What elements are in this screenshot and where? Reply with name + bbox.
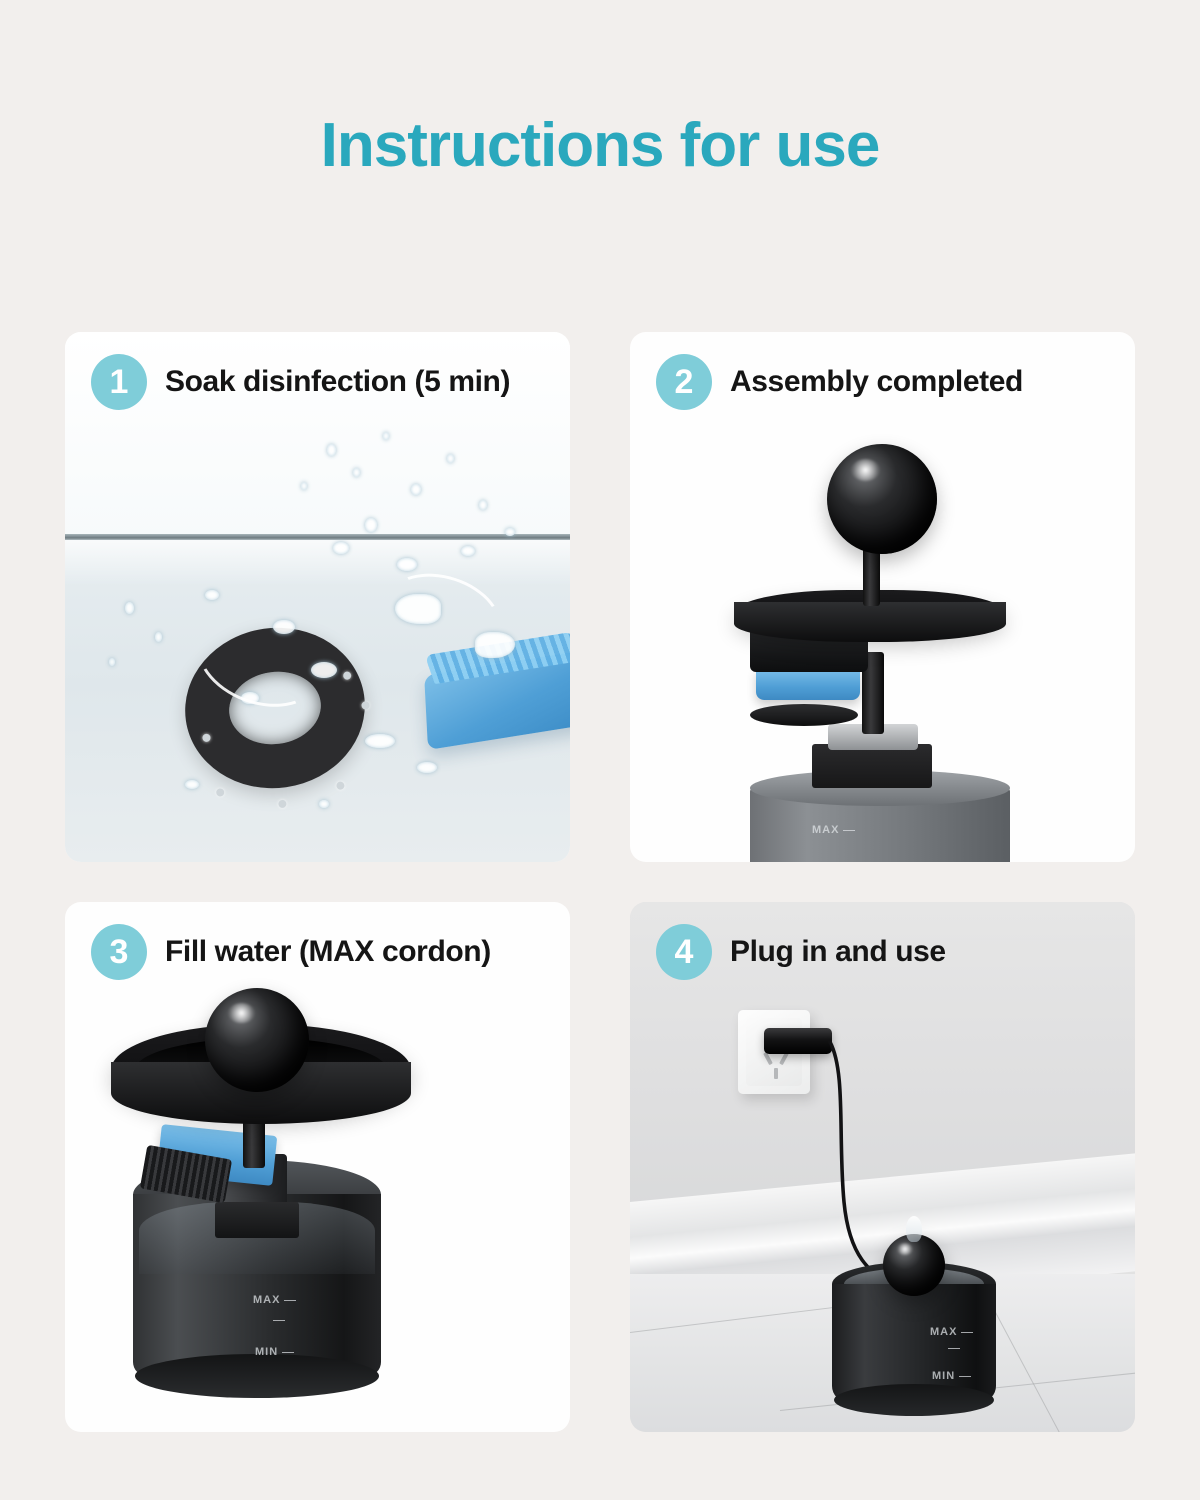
page-title: Instructions for use: [0, 0, 1200, 180]
step-header-4: 4 Plug in and use: [656, 924, 946, 980]
step-label-4: Plug in and use: [730, 935, 946, 969]
fountain-mid-marking: [948, 1348, 960, 1349]
fountain-mid-tick: [948, 1348, 960, 1349]
tank-max-label: MAX: [812, 824, 839, 836]
tank-bottom-edge: [135, 1354, 379, 1398]
step-badge-4: 4: [656, 924, 712, 980]
splash-droplet: [301, 482, 307, 490]
fountain-bottom-edge: [834, 1384, 994, 1416]
product-fill-view: MAX MIN: [65, 902, 570, 1432]
fountain-ball: [883, 1234, 945, 1296]
step-badge-3: 3: [91, 924, 147, 980]
fountain-min-tick: [959, 1376, 971, 1377]
splash-droplet: [411, 484, 421, 495]
tank-max-label: MAX: [253, 1294, 280, 1306]
product-exploded-view: MAX: [630, 332, 1135, 862]
splash-droplet: [365, 734, 395, 748]
step-card-3: MAX MIN 3: [65, 902, 570, 1432]
splash-droplet: [479, 500, 487, 510]
step-header-2: 2 Assembly completed: [656, 354, 1023, 410]
splash-droplet: [417, 762, 437, 773]
splash-droplet: [447, 454, 454, 463]
step-label-1: Soak disinfection (5 min): [165, 365, 510, 399]
splash-droplet: [125, 602, 134, 614]
fountain-min-marking: MIN: [932, 1370, 971, 1382]
tank-max-marking: MAX: [253, 1294, 296, 1306]
fountain-min-label: MIN: [932, 1370, 955, 1382]
filter-retainer-ring: [750, 704, 858, 726]
fountain-tray-rim: [734, 602, 1006, 642]
tank-max-tick: [843, 830, 855, 831]
splash-droplet: [383, 432, 389, 440]
tank-mid-marking: [273, 1320, 285, 1321]
splash-droplet: [205, 590, 219, 600]
step-card-4: MAX MIN 4 Plug in and use: [630, 902, 1135, 1432]
fountain-water-spout: [906, 1216, 922, 1242]
splash-droplet: [365, 518, 377, 532]
step-header-3: 3 Fill water (MAX cordon): [91, 924, 491, 980]
splash-droplet: [319, 800, 329, 808]
splash-droplet: [353, 468, 360, 477]
tank-min-marking: MIN: [255, 1346, 294, 1358]
fountain-ball: [827, 444, 937, 554]
fountain-max-label: MAX: [930, 1326, 957, 1338]
pump-foam: [812, 744, 932, 788]
splash-droplet: [397, 558, 417, 571]
splash-droplet: [109, 658, 115, 666]
splash-droplet: [505, 528, 515, 536]
splash-droplet: [185, 780, 199, 789]
splash-droplet: [155, 632, 162, 642]
step-label-2: Assembly completed: [730, 365, 1023, 399]
splash-droplet: [327, 444, 336, 456]
splash-droplet: [333, 542, 349, 554]
tank-min-tick: [282, 1352, 294, 1353]
blue-filter: [756, 668, 860, 700]
splash-droplet: [461, 546, 475, 556]
steps-grid: 1 Soak disinfection (5 min) MAX: [65, 332, 1135, 1436]
step-label-3: Fill water (MAX cordon): [165, 935, 491, 969]
step-header-1: 1 Soak disinfection (5 min): [91, 354, 510, 410]
tank-min-label: MIN: [255, 1346, 278, 1358]
tank-mid-tick: [273, 1320, 285, 1321]
tank-max-tick: [284, 1300, 296, 1301]
pump-foam: [215, 1202, 299, 1238]
fountain-max-tick: [961, 1332, 973, 1333]
step-badge-2: 2: [656, 354, 712, 410]
tank-max-marking: MAX: [812, 824, 855, 836]
step-card-1: 1 Soak disinfection (5 min): [65, 332, 570, 862]
step-card-2: MAX 2 Assembly completed: [630, 332, 1135, 862]
fountain-max-marking: MAX: [930, 1326, 973, 1338]
step-badge-1: 1: [91, 354, 147, 410]
fountain-ball: [205, 988, 309, 1092]
